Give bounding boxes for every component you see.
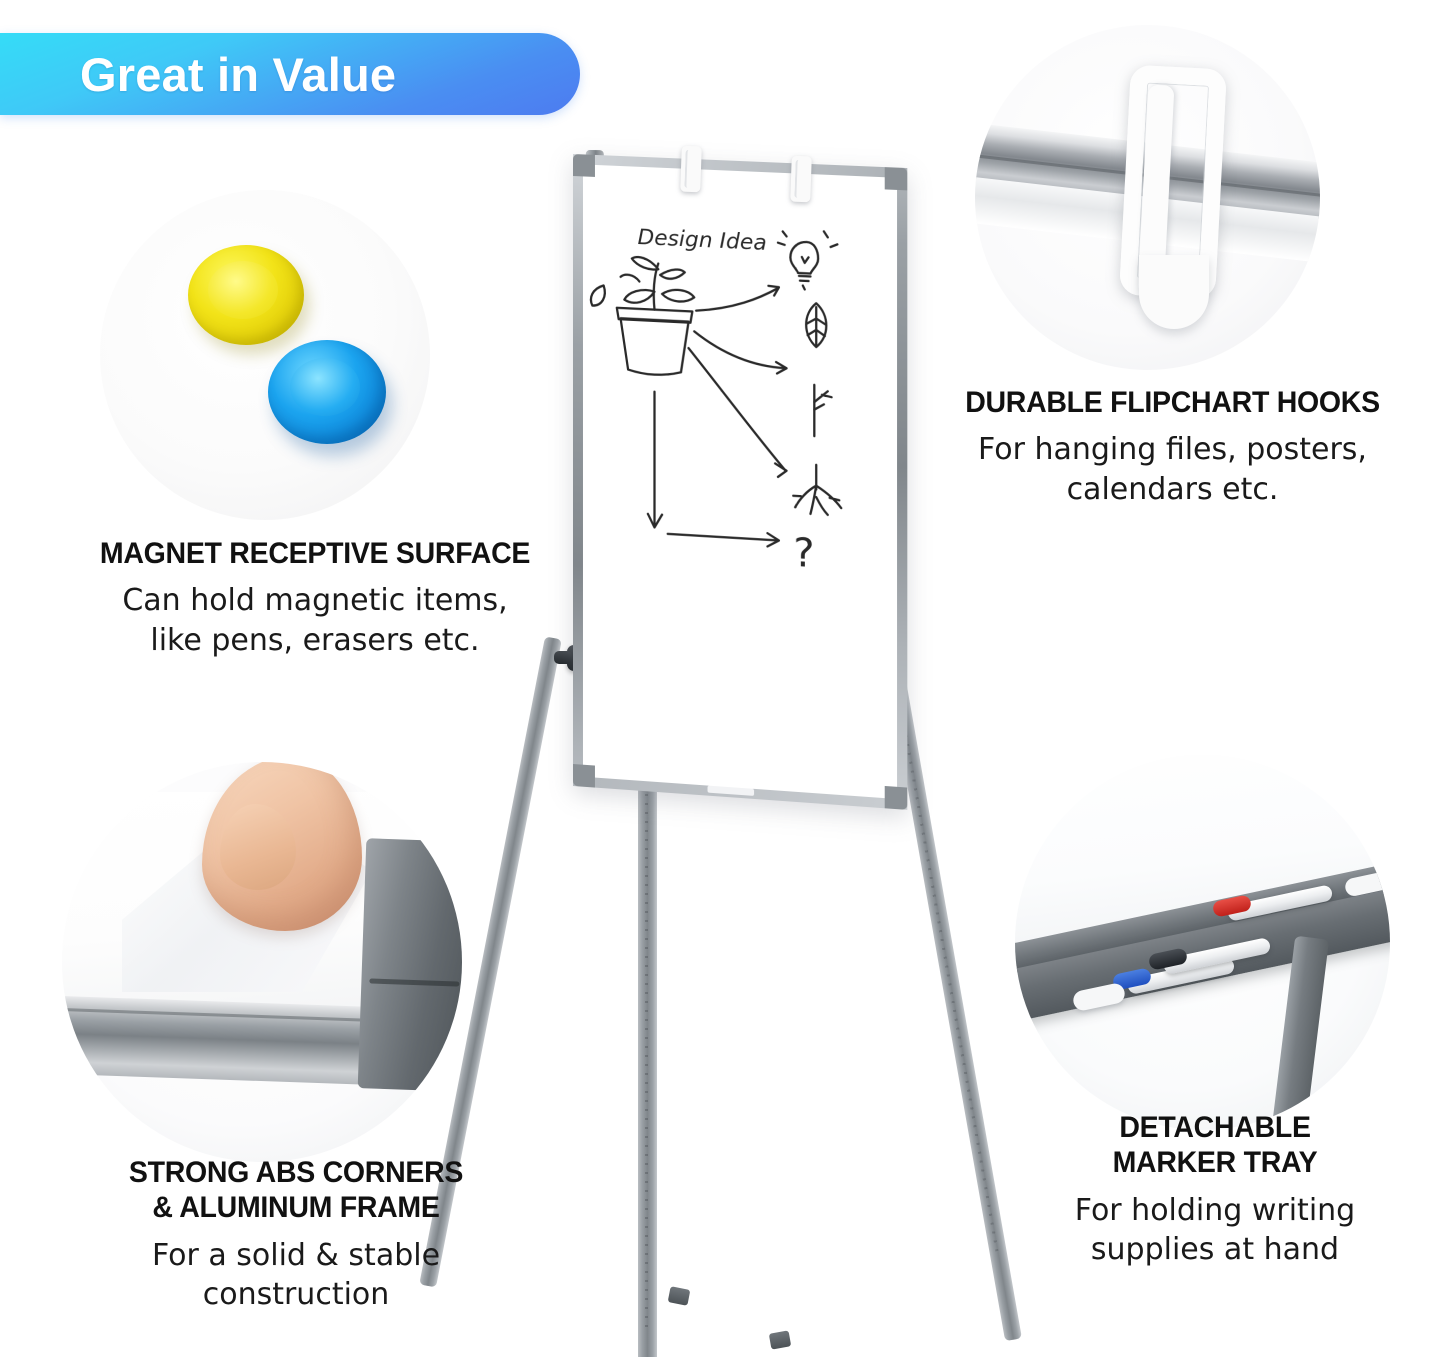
whiteboard-surface: Design Idea — [583, 164, 897, 799]
abs-corner-piece — [358, 838, 462, 1092]
feature-description-line2: like pens, erasers etc. — [150, 623, 479, 658]
magnet-discs-photo — [100, 190, 430, 520]
feature-description-line1: Can hold magnetic items, — [122, 583, 507, 618]
feature-title-line2: & ALUMINUM FRAME — [152, 1191, 439, 1224]
feature-description: For a solid & stable construction — [40, 1236, 552, 1315]
abs-corner-aluminum-frame-photo — [62, 762, 462, 1162]
hand-icon — [202, 762, 362, 931]
feature-description-line2: calendars etc. — [1067, 472, 1279, 507]
feature-description-line2: construction — [203, 1277, 390, 1312]
abs-corner-top-right — [885, 167, 908, 190]
flipchart-easel: Design Idea — [455, 140, 995, 1270]
feature-description-line1: For hanging files, posters, — [978, 432, 1367, 467]
feature-durable-flipchart-hooks: DURABLE FLIPCHART HOOKS For hanging file… — [900, 385, 1445, 510]
easel-foot-right — [769, 1330, 791, 1349]
flipchart-hook-right[interactable] — [790, 156, 812, 203]
feature-title: DURABLE FLIPCHART HOOKS — [914, 385, 1432, 420]
feature-title: DETACHABLE MARKER TRAY — [1011, 1110, 1420, 1181]
easel-leg-center — [638, 730, 657, 1357]
yellow-magnet-icon — [188, 245, 304, 345]
feature-title-line1: DETACHABLE — [1119, 1111, 1310, 1144]
abs-corner-bottom-right — [885, 786, 908, 810]
flipchart-hook-left[interactable] — [680, 146, 702, 193]
banner-label: Great in Value — [0, 47, 396, 102]
feature-title: MAGNET RECEPTIVE SURFACE — [33, 536, 597, 571]
svg-text:?: ? — [793, 530, 814, 578]
whiteboard: Design Idea — [573, 154, 907, 810]
whiteboard-sketch: Design Idea — [583, 164, 897, 799]
feature-magnet-receptive-surface: MAGNET RECEPTIVE SURFACE Can hold magnet… — [18, 536, 612, 661]
abs-corner-bottom-left — [573, 764, 595, 788]
easel-foot-left — [668, 1286, 691, 1306]
great-in-value-banner: Great in Value — [0, 33, 580, 115]
feature-description-line1: For a solid & stable — [152, 1238, 440, 1273]
feature-strong-abs-corners: STRONG ABS CORNERS & ALUMINUM FRAME For … — [40, 1155, 552, 1315]
feature-description: Can hold magnetic items, like pens, eras… — [18, 581, 612, 660]
feature-description: For holding writing supplies at hand — [1000, 1191, 1430, 1270]
hook-lower-lip — [1139, 255, 1209, 329]
blue-magnet-icon — [268, 340, 386, 444]
feature-detachable-marker-tray: DETACHABLE MARKER TRAY For holding writi… — [1000, 1110, 1430, 1270]
feature-description: For hanging files, posters, calendars et… — [900, 430, 1445, 509]
feature-title-line1: STRONG ABS CORNERS — [129, 1156, 463, 1189]
feature-description-line2: supplies at hand — [1091, 1232, 1339, 1267]
flipchart-hook-photo — [975, 25, 1320, 370]
product-infographic: Great in Value — [0, 0, 1445, 1357]
feature-description-line1: For holding writing — [1075, 1193, 1355, 1228]
svg-text:Design Idea: Design Idea — [638, 225, 767, 256]
abs-corner-top-left — [573, 154, 595, 177]
feature-title-line2: MARKER TRAY — [1113, 1146, 1318, 1179]
detachable-marker-tray-photo — [1015, 755, 1390, 1130]
feature-title: STRONG ABS CORNERS & ALUMINUM FRAME — [53, 1155, 539, 1226]
